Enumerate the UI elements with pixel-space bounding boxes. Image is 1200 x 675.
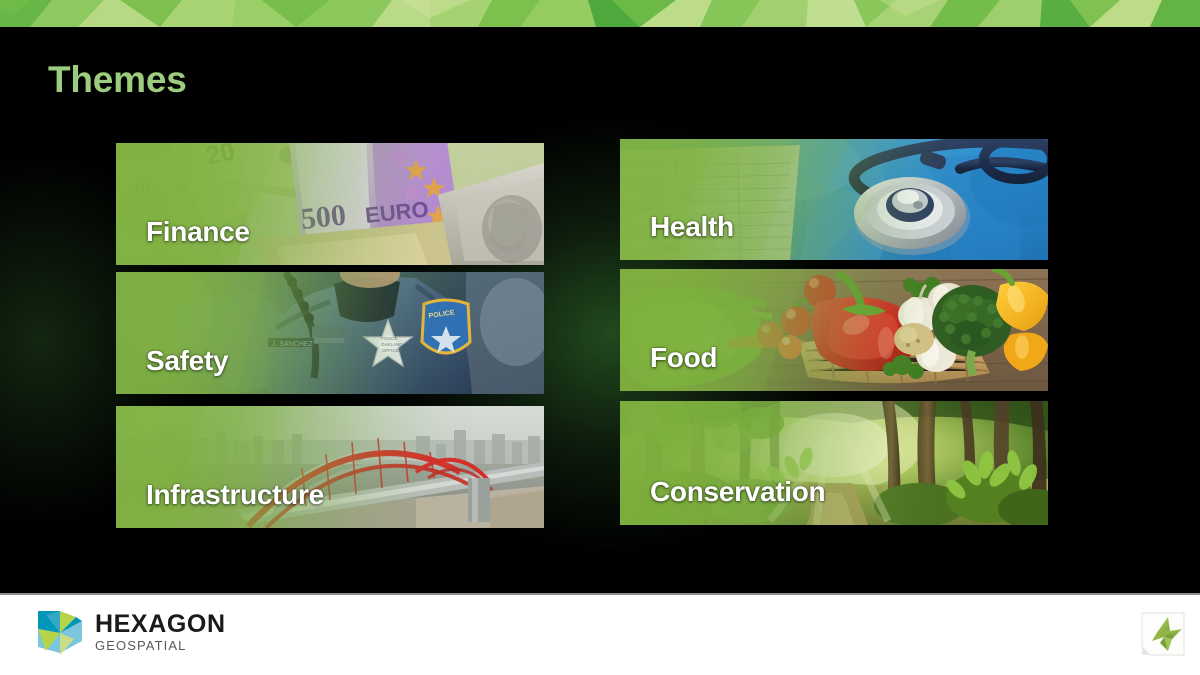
theme-label-health: Health bbox=[650, 211, 734, 243]
theme-tile-safety[interactable]: J. SANCHEZ POLICE OAKLAND OFFICER POLICE bbox=[116, 272, 544, 394]
logo-wordmark: HEXAGON bbox=[95, 611, 226, 637]
theme-label-conservation: Conservation bbox=[650, 476, 825, 508]
hexagon-logo-mark-icon bbox=[36, 607, 84, 657]
theme-tile-finance[interactable]: 20 20 bbox=[116, 143, 544, 265]
logo-subtitle: GEOSPATIAL bbox=[95, 638, 226, 653]
theme-tile-food[interactable]: Food bbox=[620, 269, 1048, 391]
theme-tile-grid: 20 20 bbox=[0, 0, 1200, 595]
theme-label-food: Food bbox=[650, 342, 717, 374]
slide-footer: HEXAGON GEOSPATIAL bbox=[0, 593, 1200, 675]
theme-label-finance: Finance bbox=[146, 216, 250, 248]
theme-tile-infrastructure[interactable]: Infrastructure bbox=[116, 406, 544, 528]
theme-tile-health[interactable]: Address Is the patient Date Address Rela… bbox=[620, 139, 1048, 260]
hexagon-geospatial-logo: HEXAGON GEOSPATIAL bbox=[36, 607, 226, 657]
theme-label-infrastructure: Infrastructure bbox=[146, 479, 324, 511]
presentation-slide: Themes bbox=[0, 0, 1200, 675]
theme-tile-conservation[interactable]: Conservation bbox=[620, 401, 1048, 525]
hexagon-logo-text: HEXAGON GEOSPATIAL bbox=[95, 611, 226, 653]
origami-bird-icon[interactable] bbox=[1138, 609, 1188, 661]
theme-label-safety: Safety bbox=[146, 345, 228, 377]
